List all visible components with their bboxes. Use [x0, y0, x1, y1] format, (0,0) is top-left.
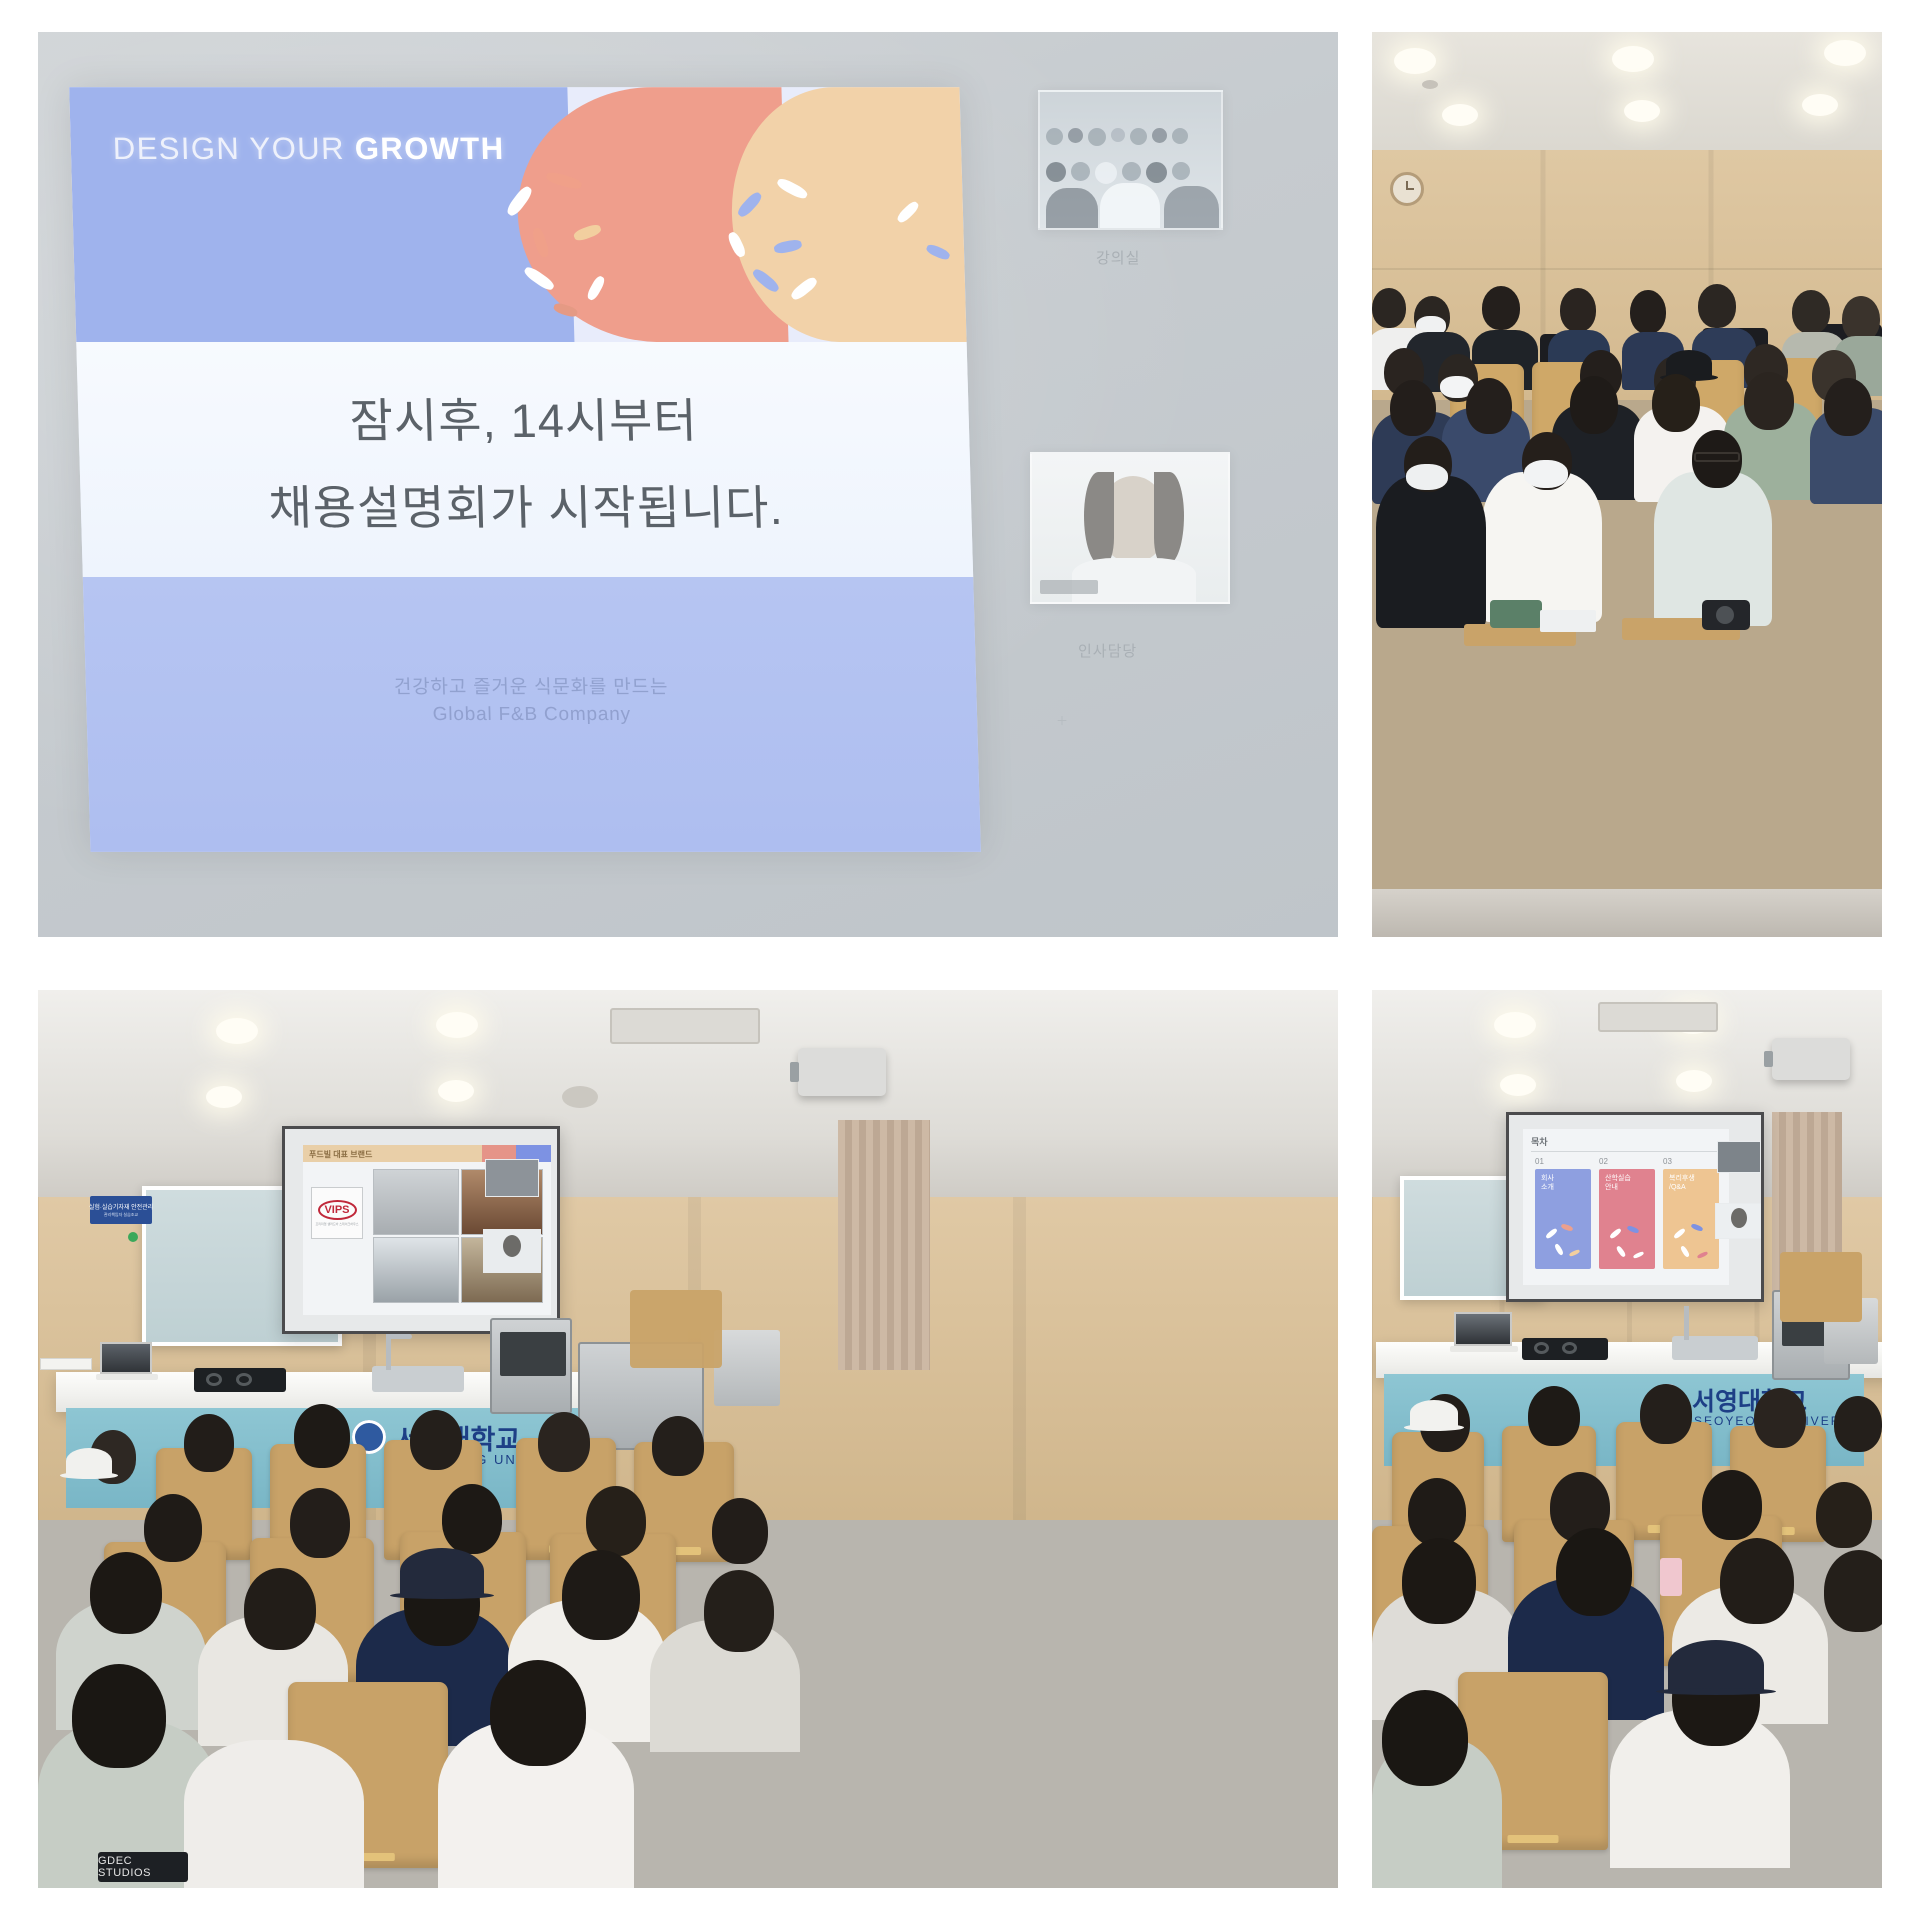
projection-screen-agenda: 목차 01 회사 소개 02 산학실습 안내: [1506, 1112, 1764, 1302]
ceiling-vent: [610, 1008, 760, 1044]
agenda-heading: 목차: [1531, 1135, 1548, 1148]
video-tile-speaker: [1030, 452, 1230, 604]
agenda-item-num: 03: [1663, 1157, 1672, 1166]
audience-area: [1372, 1390, 1882, 1888]
safety-sign-title: 실험·실습기자재 안전관리: [89, 1202, 153, 1211]
slide-footer-area: 건강하고 즐거운 식문화를 만드는 Global F&B Company: [83, 577, 981, 852]
seat-label-text: GDEC STUDIOS: [98, 1855, 188, 1879]
panel-projected-title-slide: DESIGN YOUR GROWTH 잠시후, 14시부터 채용설명회가 시작됩…: [38, 32, 1338, 937]
ceiling-light: [1802, 94, 1838, 116]
vips-logo-badge: VIPS 프리미엄 샐러드바 스테이크하우스: [311, 1187, 363, 1239]
window-curtain: [838, 1120, 930, 1370]
baseball-cap: [1666, 350, 1712, 376]
safety-sign: 실험·실습기자재 안전관리 관리책임자 실습조교: [90, 1196, 152, 1224]
faucet: [1684, 1306, 1689, 1340]
slide-message-area: 잠시후, 14시부터 채용설명회가 시작됩니다.: [76, 342, 973, 577]
ceiling-light: [1624, 100, 1660, 122]
phone-in-hand[interactable]: [1660, 1558, 1682, 1596]
laptop-screen: [1454, 1312, 1512, 1346]
ceiling-vent: [1598, 1002, 1718, 1032]
brand-photo-cell: [373, 1169, 459, 1235]
speaker-hair-left: [1084, 472, 1114, 564]
agenda-item-label: 회사 소개: [1541, 1175, 1554, 1193]
document-stack: [40, 1358, 92, 1370]
emergency-button[interactable]: [128, 1232, 138, 1242]
vips-logo-sub: 프리미엄 샐러드바 스테이크하우스: [315, 1223, 358, 1227]
slide-headline-light: DESIGN YOUR: [112, 131, 355, 166]
ceiling-light: [1394, 48, 1436, 74]
slide-headline: DESIGN YOUR GROWTH: [112, 131, 505, 167]
analog-wall-clock: [1390, 172, 1424, 206]
video-tile-audience-label: 강의실: [1096, 247, 1140, 268]
faucet: [386, 1334, 391, 1370]
laptop-screen: [100, 1342, 152, 1374]
safety-sign-sub: 관리책임자 실습조교: [104, 1212, 138, 1218]
white-cap: [1410, 1400, 1458, 1426]
video-tile-extra-label: ＋: [1056, 712, 1069, 729]
projected-video-tile-audience: [485, 1159, 539, 1197]
slide-message-line-1: 잠시후, 14시부터: [349, 382, 699, 451]
slide-headline-bold: GROWTH: [354, 131, 505, 166]
eyeglasses: [1694, 452, 1740, 462]
agenda-item-label: 복리후생 /Q&A: [1669, 1175, 1695, 1193]
ceiling-projector: [798, 1048, 886, 1096]
projected-speaker-head: [503, 1235, 521, 1257]
seat-label-tag: GDEC STUDIOS: [98, 1852, 188, 1882]
slide-footer-line-2: Global F&B Company: [432, 704, 631, 726]
gas-cooktop: [1522, 1338, 1608, 1360]
vips-logo-text: VIPS: [318, 1200, 357, 1220]
slide-color-banner: DESIGN YOUR GROWTH: [69, 87, 966, 342]
photo-collage: DESIGN YOUR GROWTH 잠시후, 14시부터 채용설명회가 시작됩…: [0, 0, 1920, 1920]
agenda-item-num: 02: [1599, 1157, 1608, 1166]
faucet-spout: [386, 1334, 412, 1339]
projection-screen-title: DESIGN YOUR GROWTH 잠시후, 14시부터 채용설명회가 시작됩…: [69, 87, 981, 852]
panel-hall-right: 목차 01 회사 소개 02 산학실습 안내: [1372, 990, 1882, 1888]
ceiling-light: [1824, 40, 1866, 66]
white-cap: [66, 1448, 112, 1474]
agenda-slide: 목차 01 회사 소개 02 산학실습 안내: [1523, 1129, 1729, 1285]
audience-area: GDEC STUDIOS: [38, 1420, 1338, 1888]
brand-photo-cell: [373, 1237, 459, 1303]
navy-cap: [1668, 1640, 1764, 1690]
stacked-chairs: [1780, 1252, 1862, 1322]
panel-audience: [1372, 32, 1882, 937]
ceiling-projector: [1772, 1038, 1850, 1080]
agenda-item-card: 회사 소개: [1535, 1169, 1591, 1269]
slide-message-line-2: 채용설명회가 시작됩니다.: [267, 469, 784, 538]
gas-cooktop: [194, 1368, 286, 1392]
video-tile-speaker-label: 인사담당: [1078, 640, 1137, 661]
laptop-base: [96, 1374, 158, 1380]
agenda-item-card: 복리후생 /Q&A: [1663, 1169, 1719, 1269]
navy-cap: [400, 1548, 484, 1594]
speaker-hair-right: [1154, 472, 1184, 564]
projected-video-tile-audience: [1717, 1141, 1761, 1173]
laptop-base: [1450, 1346, 1518, 1352]
ceiling-light: [1442, 104, 1478, 126]
handout-paper: [1540, 610, 1596, 632]
agenda-item-num: 01: [1535, 1157, 1544, 1166]
agenda-item-card: 산학실습 안내: [1599, 1169, 1655, 1269]
panel-hall-left: 실험·실습기자재 안전관리 관리책임자 실습조교 푸드빌 대표 브랜드 VIPS…: [38, 990, 1338, 1888]
convection-oven: [490, 1318, 572, 1414]
projected-speaker-head: [1731, 1208, 1747, 1228]
camera-lens-icon: [1716, 606, 1734, 624]
espresso-machine: [714, 1330, 780, 1406]
agenda-item-label: 산학실습 안내: [1605, 1175, 1631, 1193]
projection-screen-brand: 푸드빌 대표 브랜드 VIPS 프리미엄 샐러드바 스테이크하우스: [282, 1126, 560, 1334]
stacked-chairs: [630, 1290, 722, 1368]
ceiling-light: [1612, 46, 1654, 72]
banner-blue-block: [69, 87, 575, 342]
ceiling-speaker: [562, 1086, 598, 1108]
smoke-detector: [1422, 80, 1438, 89]
floor-strip: [1372, 889, 1882, 937]
green-pouch: [1490, 600, 1542, 628]
speaker-name-chip: [1040, 580, 1098, 594]
brand-slide-heading: 푸드빌 대표 브랜드: [309, 1149, 372, 1160]
slide-footer-line-1: 건강하고 즐거운 식문화를 만드는: [394, 672, 669, 699]
video-tile-audience: [1038, 90, 1223, 230]
agenda-divider: [1531, 1151, 1719, 1152]
